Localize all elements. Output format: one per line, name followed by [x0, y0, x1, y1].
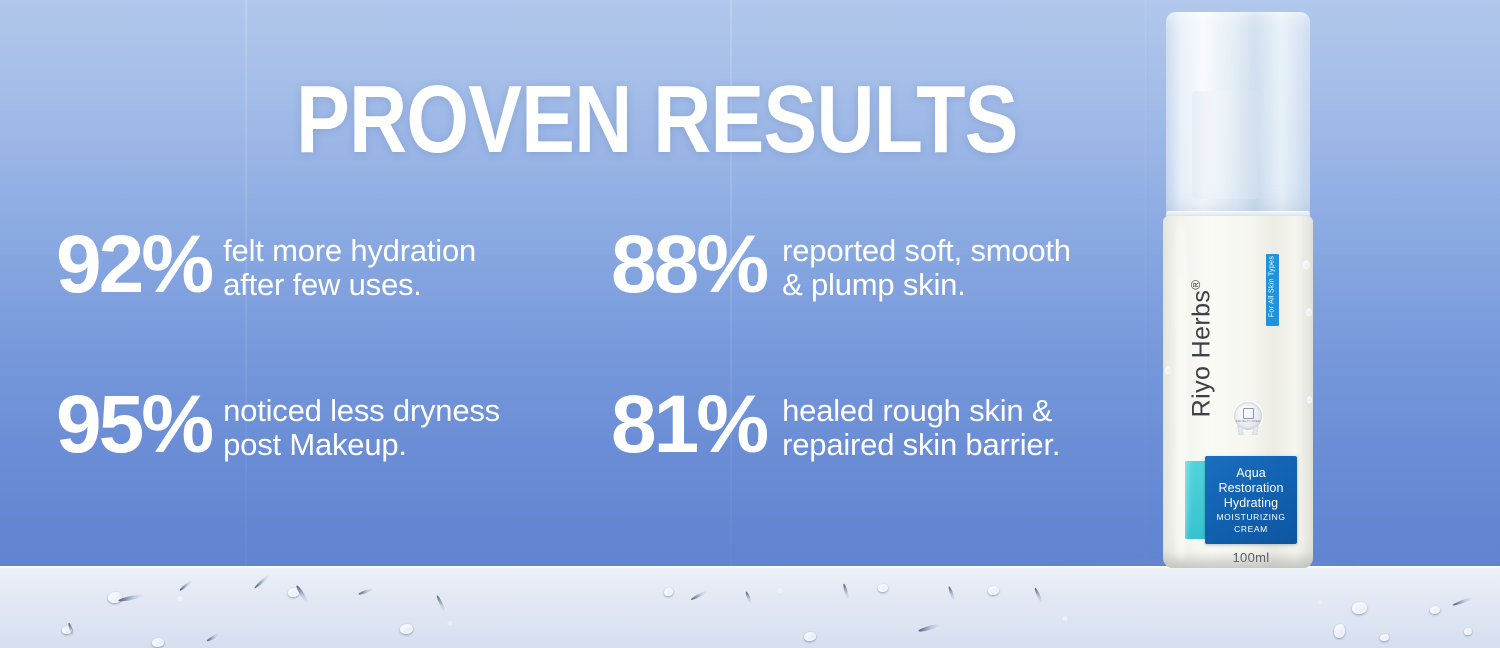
stat-block: 92% felt more hydration after few uses. [56, 226, 591, 386]
stat-percent: 88% [611, 226, 766, 304]
product-label-line-2: Restoration [1218, 481, 1283, 496]
certification-seal-icon: CRUELTY FREE [1233, 402, 1263, 436]
product-label-line-4: MOISTURIZING [1216, 512, 1285, 523]
seal-ribbon-right [1252, 426, 1259, 435]
water-droplet [1307, 396, 1312, 403]
page-title: PROVEN RESULTS [296, 72, 1018, 168]
brand-name-text: Riyo Herbs [1188, 290, 1216, 418]
bottle-body: Riyo Herbs® For All Skin Types CRUELTY F… [1163, 216, 1313, 568]
wet-surface [0, 566, 1500, 648]
stat-percent: 95% [56, 386, 211, 464]
stat-description: noticed less dryness post Makeup. [223, 386, 500, 462]
stat-description: felt more hydration after few uses. [223, 226, 476, 302]
brand-name: Riyo Herbs® [1188, 264, 1217, 434]
product-label-line-5: CREAM [1234, 524, 1268, 535]
skin-type-tab: For All Skin Types [1266, 254, 1279, 326]
seal-label: CRUELTY FREE [1236, 420, 1260, 424]
stat-block: 88% reported soft, smooth & plump skin. [611, 226, 1146, 386]
proven-results-banner: PROVEN RESULTS 92% felt more hydration a… [0, 0, 1500, 648]
seal-mark-icon [1243, 408, 1254, 419]
product-bottle: Riyo Herbs® For All Skin Types CRUELTY F… [1163, 10, 1313, 568]
surface-texture [0, 566, 1500, 648]
bottle-cap [1166, 12, 1310, 220]
registered-trademark-icon: ® [1188, 280, 1203, 290]
stats-grid: 92% felt more hydration after few uses. … [56, 226, 1146, 546]
product-label-line-1: Aqua [1236, 466, 1266, 481]
stat-block: 81% healed rough skin & repaired skin ba… [611, 386, 1146, 546]
stat-description: healed rough skin & repaired skin barrie… [782, 386, 1060, 462]
stat-percent: 81% [611, 386, 766, 464]
product-volume: 100ml [1205, 550, 1297, 565]
stat-percent: 92% [56, 226, 211, 304]
water-droplet [1165, 366, 1171, 374]
product-label-line-3: Hydrating [1224, 496, 1278, 511]
product-label: Aqua Restoration Hydrating MOISTURIZING … [1205, 456, 1297, 544]
water-droplet [1306, 308, 1312, 316]
water-droplet [1303, 260, 1310, 269]
skin-type-tab-label: For All Skin Types [1269, 251, 1276, 323]
stat-description: reported soft, smooth & plump skin. [782, 226, 1071, 302]
stat-block: 95% noticed less dryness post Makeup. [56, 386, 591, 546]
